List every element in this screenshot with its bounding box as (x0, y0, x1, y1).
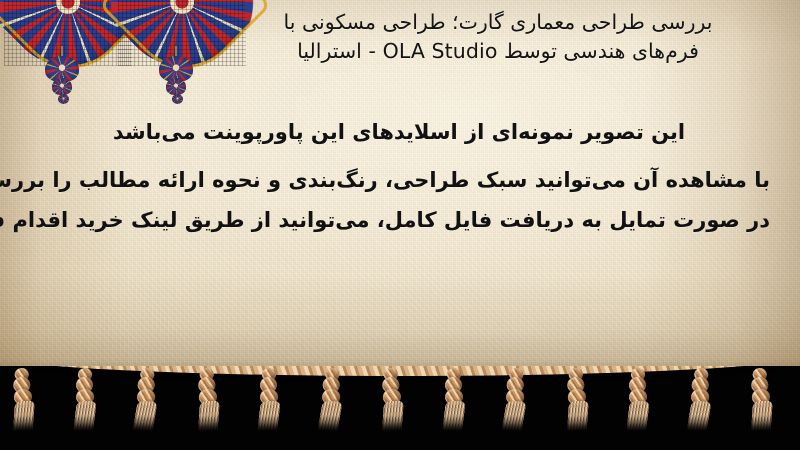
body-line-3: در صورت تمایل به دریافت فایل کامل، می‌تو… (28, 200, 770, 240)
slide-body-text: این تصویر نمونه‌ای از اسلایدهای این پاور… (28, 112, 770, 240)
carpet-tassel (687, 367, 712, 430)
tassel-skirt (197, 400, 219, 431)
tassel-skirt (751, 400, 773, 431)
slide-title-line-1: بررسی طراحی معماری گارت؛ طراحی مسکونی با (218, 8, 778, 37)
carpet-tassel (443, 368, 465, 430)
tassel-skirt (686, 401, 711, 432)
carpet-tassel (380, 367, 405, 430)
carpet-tassel (195, 367, 220, 430)
body-line-1: این تصویر نمونه‌ای از اسلایدهای این پاور… (28, 112, 770, 152)
tassel-skirt (382, 400, 404, 431)
slide-title-line-2: فرم‌های هندسی توسط OLA Studio - استرالیا (218, 37, 778, 66)
tassel-skirt (502, 401, 527, 432)
carpet-tassel (318, 367, 343, 430)
tassel-skirt (442, 401, 466, 431)
carpet-tassel (749, 367, 774, 430)
carpet-tassel (258, 368, 280, 430)
tassel-skirt (627, 401, 651, 431)
carpet-tassel (10, 367, 35, 430)
carpet-tassel (503, 367, 528, 430)
slide-canvas: بررسی طراحی معماری گارت؛ طراحی مسکونی با… (0, 0, 800, 450)
tassel-skirt (317, 401, 342, 432)
tassel-skirt (257, 401, 281, 431)
carpet-tassel (564, 367, 589, 430)
carpet-tassel (627, 368, 649, 430)
tassel-skirt (133, 401, 158, 432)
body-line-2: با مشاهده آن می‌توانید سبک طراحی، رنگ‌بن… (28, 160, 770, 200)
carpet-tassel-fringe (0, 366, 800, 450)
slide-title: بررسی طراحی معماری گارت؛ طراحی مسکونی با… (218, 8, 778, 66)
tassel-skirt (73, 401, 97, 431)
carpet-tassel (133, 367, 158, 430)
tassel-skirt (567, 400, 589, 431)
tassel-skirt (13, 400, 35, 431)
carpet-tassel (74, 368, 96, 430)
